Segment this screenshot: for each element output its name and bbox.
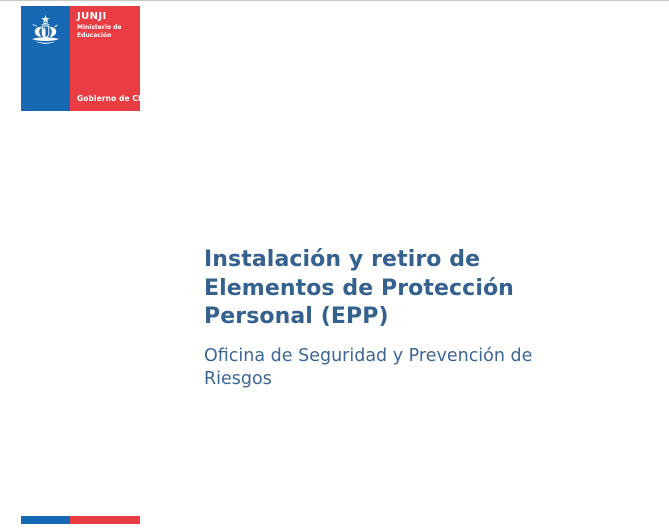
top-divider-rule xyxy=(0,0,669,1)
logo-brand-subtitle: Ministerio de Educación xyxy=(77,24,139,39)
title-block: Instalación y retiro de Elementos de Pro… xyxy=(204,246,604,391)
footer-flag-bar xyxy=(21,516,140,524)
slide-title: Instalación y retiro de Elementos de Pro… xyxy=(204,246,604,332)
logo-government-label: Gobierno de Chile xyxy=(77,94,140,103)
presentation-slide: JUNJI Ministerio de Educación Gobierno d… xyxy=(0,0,669,528)
logo-brand-block: JUNJI Ministerio de Educación xyxy=(77,11,139,39)
footer-bar-blue-segment xyxy=(21,516,70,524)
logo-brand-name: JUNJI xyxy=(77,11,139,22)
logo-blue-panel xyxy=(21,6,70,111)
footer-bar-red-segment xyxy=(70,516,140,524)
logo-red-panel: JUNJI Ministerio de Educación Gobierno d… xyxy=(70,6,140,111)
junji-logo: JUNJI Ministerio de Educación Gobierno d… xyxy=(21,6,140,111)
chile-coat-of-arms-icon xyxy=(28,14,63,46)
slide-subtitle: Oficina de Seguridad y Prevención de Rie… xyxy=(204,345,604,391)
